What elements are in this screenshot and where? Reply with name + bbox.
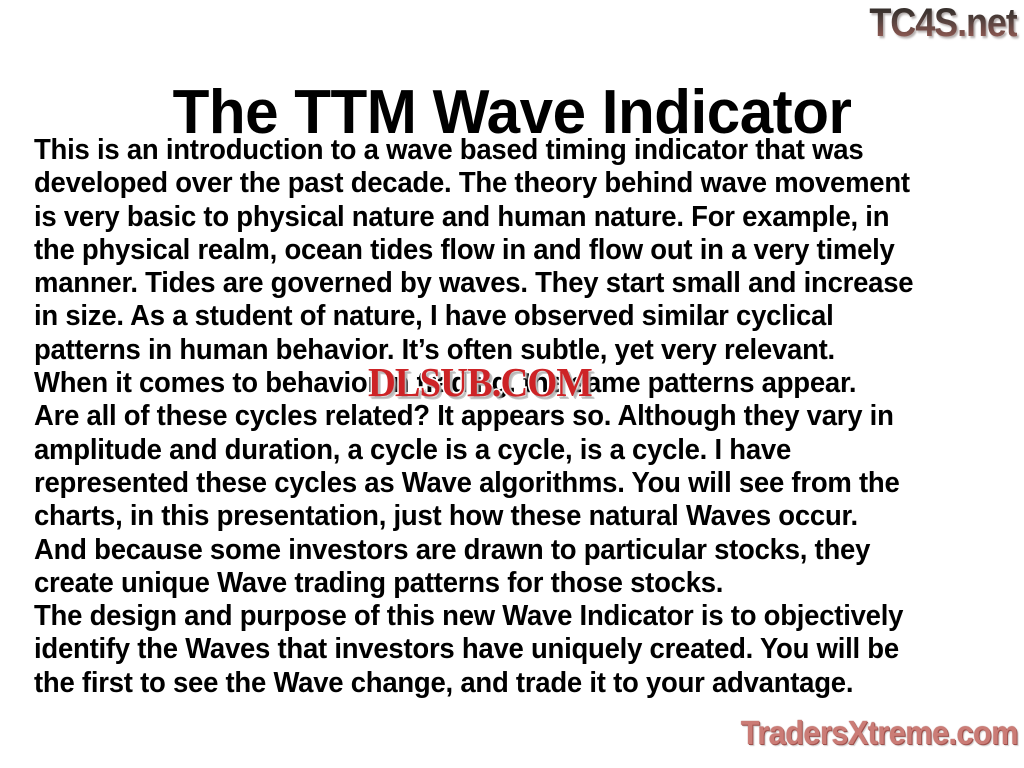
body-line: the physical realm, ocean tides flow in … (34, 234, 960, 267)
body-line: create unique Wave trading patterns for … (34, 567, 960, 600)
body-text-block: This is an introduction to a wave based … (34, 134, 960, 700)
brand-logo-tradersxtreme: TradersXtreme.com (741, 714, 1018, 752)
body-line: amplitude and duration, a cycle is a cyc… (34, 434, 960, 467)
body-line: And because some investors are drawn to … (34, 534, 960, 567)
slide-canvas: TC4S.net The TTM Wave Indicator This is … (0, 0, 1024, 768)
body-line: charts, in this presentation, just how t… (34, 500, 960, 533)
body-line: Are all of these cycles related? It appe… (34, 400, 960, 433)
body-line: The design and purpose of this new Wave … (34, 600, 960, 633)
body-line: in size. As a student of nature, I have … (34, 300, 960, 333)
body-line: manner. Tides are governed by waves. The… (34, 267, 960, 300)
brand-logo-tc4s: TC4S.net (870, 1, 1017, 45)
watermark-dlsub: DLSUB.COM (368, 360, 592, 404)
body-line: the first to see the Wave change, and tr… (34, 667, 960, 700)
body-line: This is an introduction to a wave based … (34, 134, 960, 167)
body-line: represented these cycles as Wave algorit… (34, 467, 960, 500)
body-line: identify the Waves that investors have u… (34, 633, 960, 666)
body-line: is very basic to physical nature and hum… (34, 201, 960, 234)
body-line: developed over the past decade. The theo… (34, 167, 960, 200)
